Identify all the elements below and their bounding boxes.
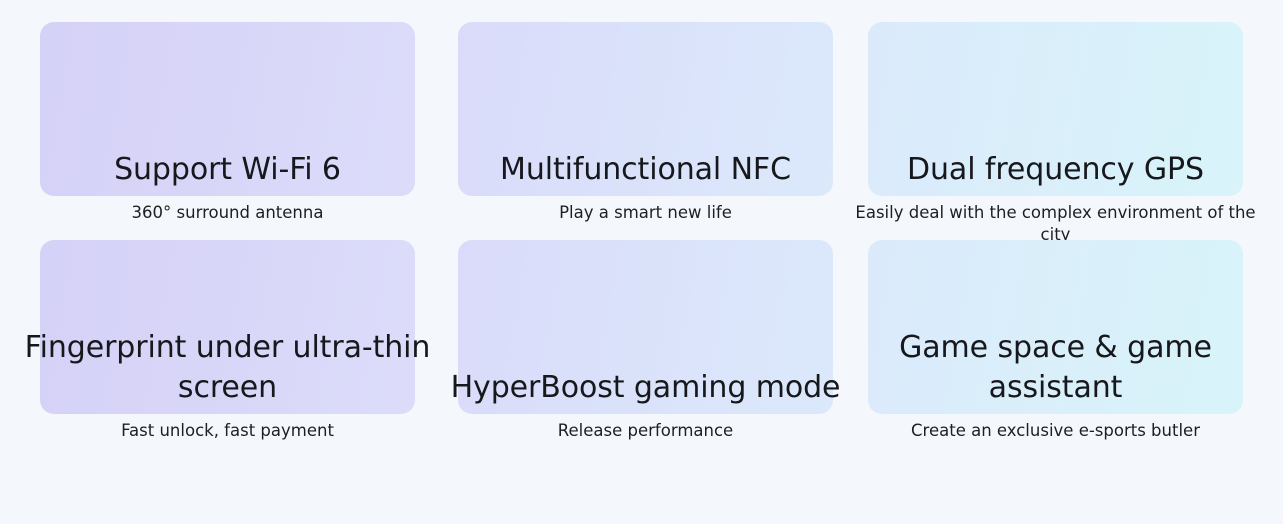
feature-card-gamespace[interactable]: Game space & game assistant Create an ex… — [868, 240, 1243, 414]
feature-card-fingerprint-title: Fingerprint under ultra-thin screen — [10, 328, 445, 408]
feature-card-nfc[interactable]: Multifunctional NFC Play a smart new lif… — [458, 22, 833, 196]
feature-card-nfc-visual: Multifunctional NFC — [458, 22, 833, 196]
feature-card-gamespace-subtitle: Create an exclusive e-sports butler — [840, 420, 1271, 442]
feature-card-gamespace-visual: Game space & game assistant — [868, 240, 1243, 414]
feature-card-fingerprint-subtitle: Fast unlock, fast payment — [12, 420, 443, 442]
feature-card-hyperboost-title: HyperBoost gaming mode — [428, 368, 863, 408]
feature-card-fingerprint-visual: Fingerprint under ultra-thin screen — [40, 240, 415, 414]
feature-card-gps-title: Dual frequency GPS — [838, 150, 1273, 190]
feature-card-wifi6-subtitle: 360° surround antenna — [12, 202, 443, 224]
feature-card-nfc-subtitle: Play a smart new life — [430, 202, 861, 224]
feature-card-hyperboost-subtitle: Release performance — [430, 420, 861, 442]
feature-card-gps-visual: Dual frequency GPS — [868, 22, 1243, 196]
feature-card-grid: Support Wi-Fi 6 360° surround antenna Mu… — [0, 0, 1283, 524]
feature-card-hyperboost[interactable]: HyperBoost gaming mode Release performan… — [458, 240, 833, 414]
feature-card-gps[interactable]: Dual frequency GPS Easily deal with the … — [868, 22, 1243, 196]
feature-card-gamespace-title: Game space & game assistant — [838, 328, 1273, 408]
feature-card-wifi6[interactable]: Support Wi-Fi 6 360° surround antenna — [40, 22, 415, 196]
feature-card-nfc-title: Multifunctional NFC — [428, 150, 863, 190]
feature-card-fingerprint[interactable]: Fingerprint under ultra-thin screen Fast… — [40, 240, 415, 414]
feature-card-hyperboost-visual: HyperBoost gaming mode — [458, 240, 833, 414]
feature-card-wifi6-visual: Support Wi-Fi 6 — [40, 22, 415, 196]
feature-card-wifi6-title: Support Wi-Fi 6 — [10, 150, 445, 190]
